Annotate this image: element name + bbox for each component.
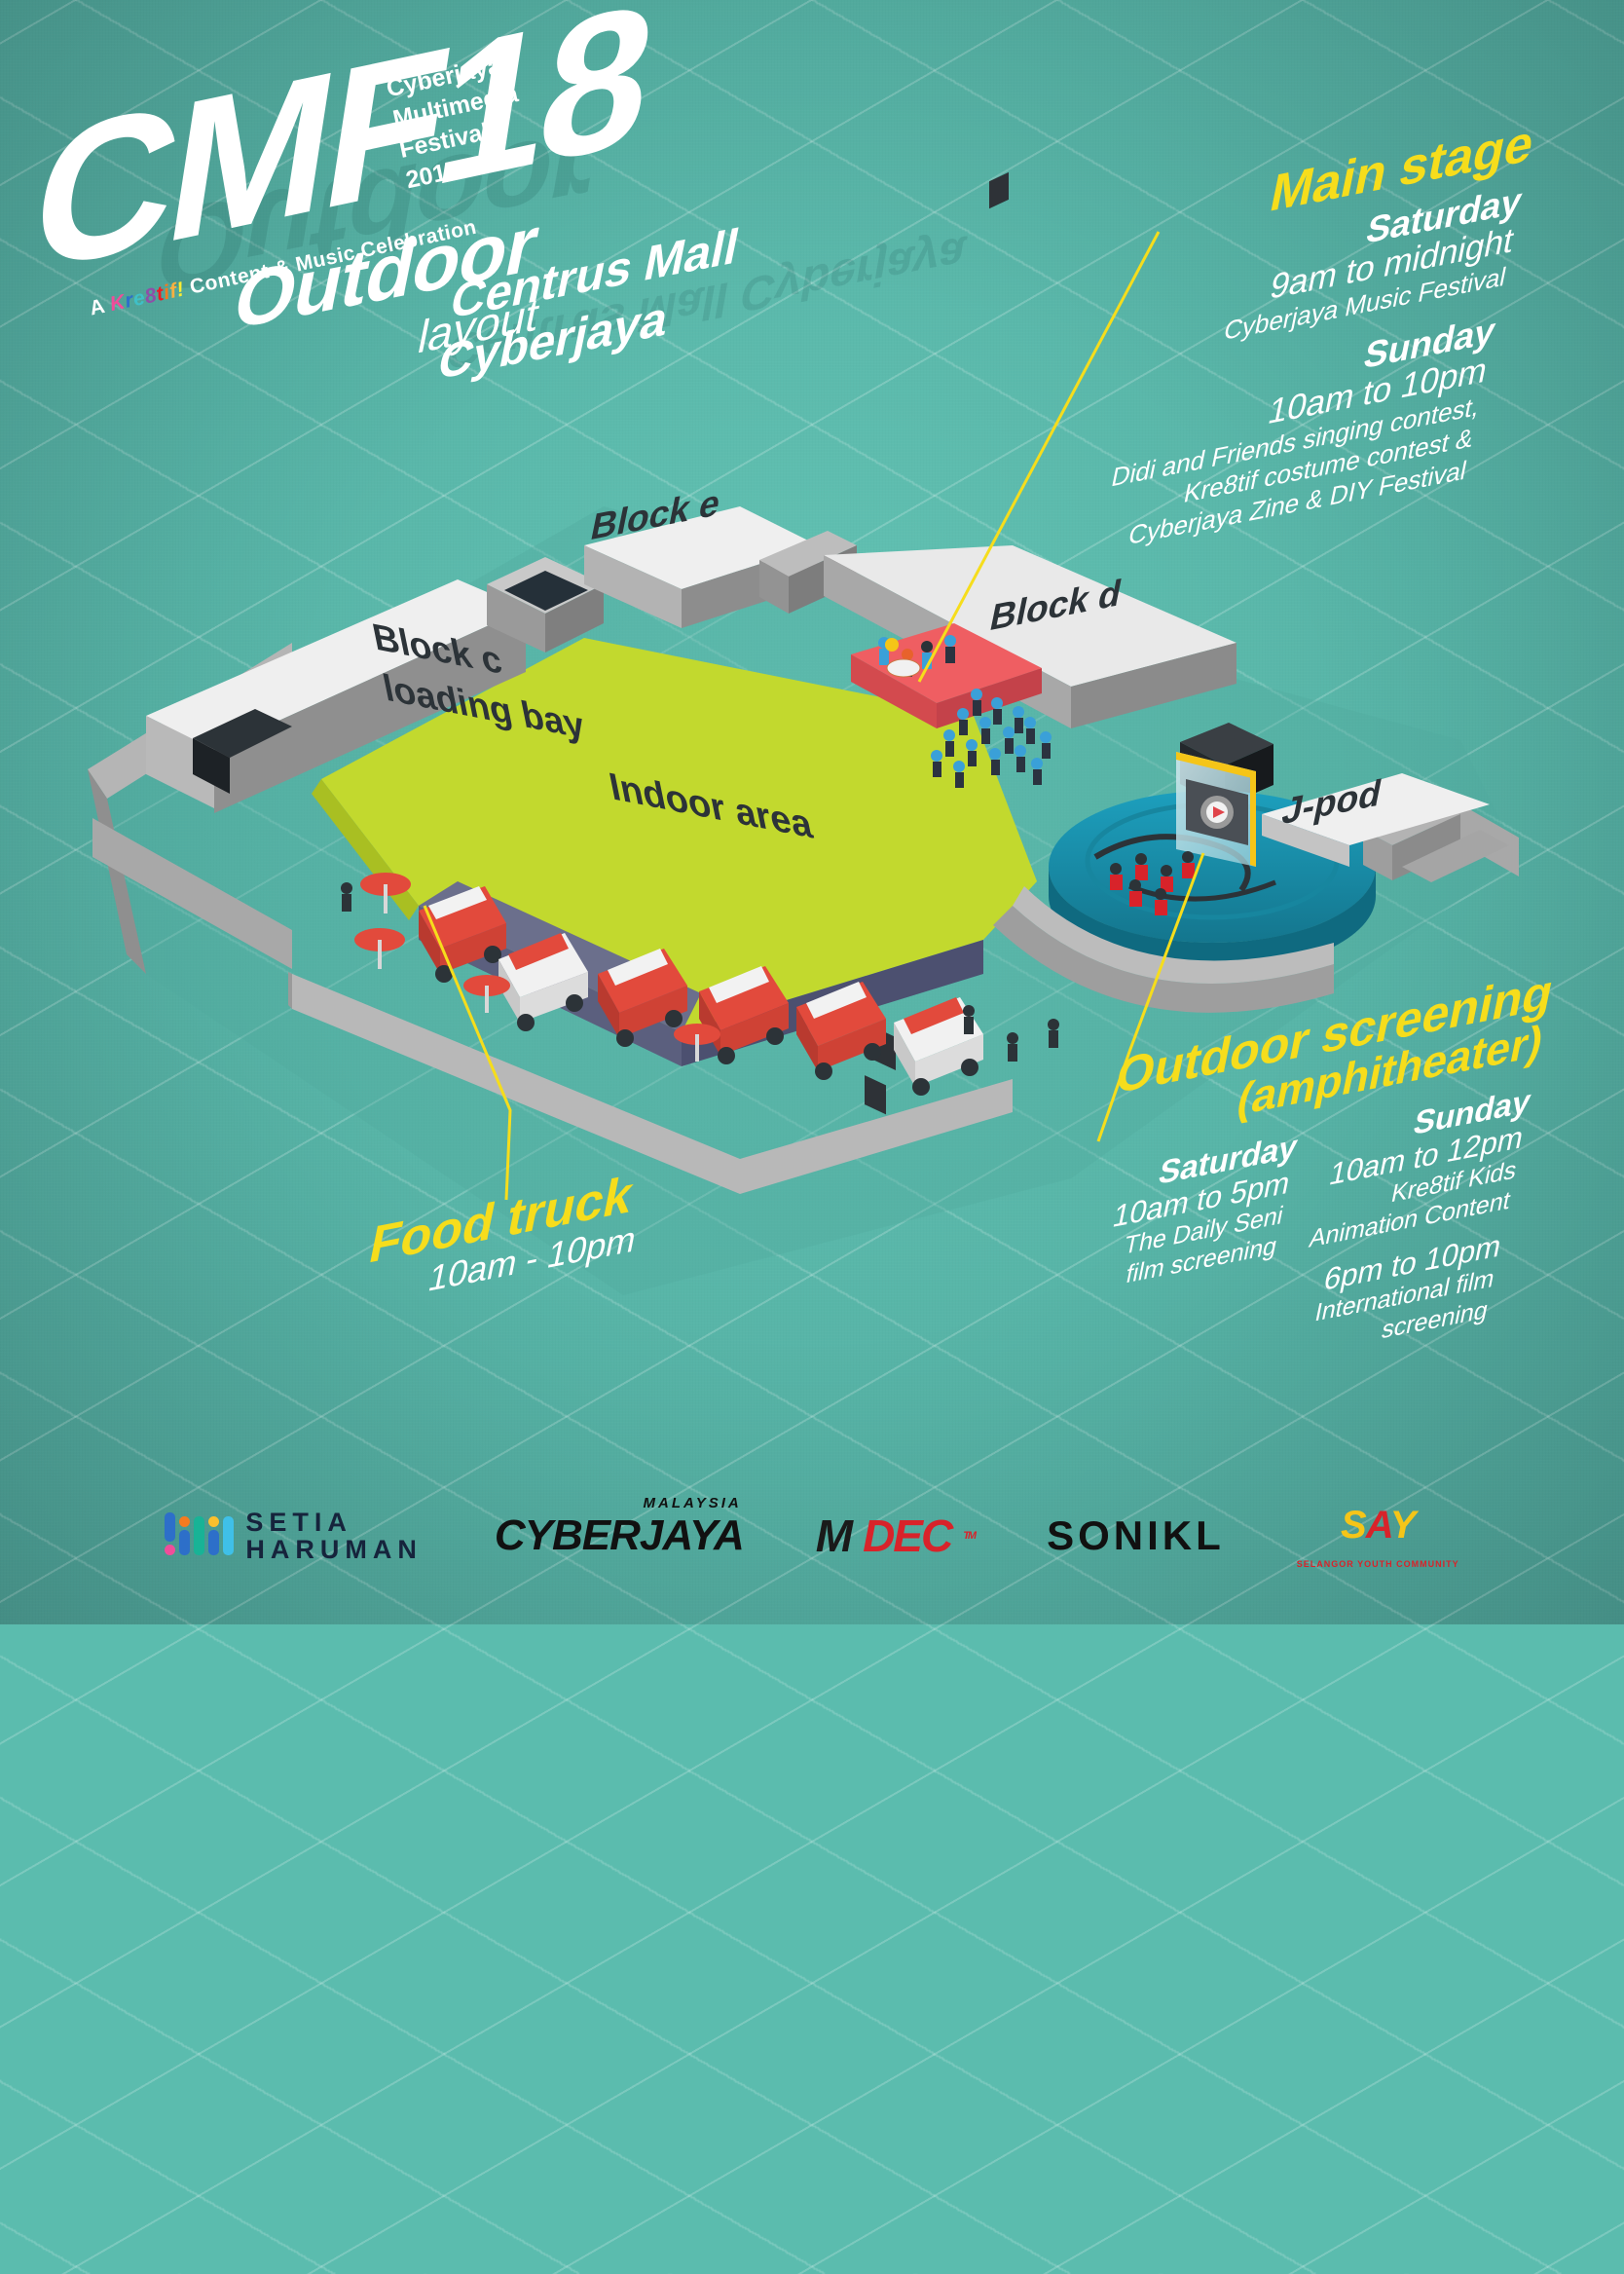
sponsor-setia-haruman: SETIA HARUMAN <box>165 1509 422 1564</box>
screening-saturday-column: Saturday 10am to 5pm The Daily Seni film… <box>1075 1118 1303 1405</box>
say-wordmark: SAY <box>1341 1504 1415 1547</box>
mdec-wordmark-part1: M <box>816 1510 851 1562</box>
festival-logo-subtitle: Cyberjaya Multimedia Festival 2018 <box>384 48 534 196</box>
mdec-trademark: TM <box>963 1530 975 1542</box>
mdec-wordmark-part2: DEC <box>863 1510 951 1562</box>
cyberjaya-wordmark: CYBERJAYA <box>495 1511 744 1560</box>
say-subtitle: SELANGOR YOUTH COMMUNITY <box>1297 1559 1459 1569</box>
setia-haruman-wordmark: SETIA HARUMAN <box>245 1509 422 1564</box>
sponsor-say: SAY SELANGOR YOUTH COMMUNITY <box>1297 1504 1459 1569</box>
sponsor-mdec: MDECTM <box>816 1510 975 1562</box>
sponsor-line-2: HARUMAN <box>245 1536 422 1563</box>
sponsor-line-1: SETIA <box>245 1509 422 1536</box>
sponsor-bar: SETIA HARUMAN CYBERJAYA MALAYSIA MDECTM … <box>0 1494 1624 1578</box>
sponsor-cyberjaya: CYBERJAYA MALAYSIA <box>495 1511 744 1560</box>
setia-haruman-mark <box>165 1516 234 1555</box>
cyberjaya-malaysia-label: MALAYSIA <box>644 1495 742 1511</box>
sponsor-sonikl: SONIKL <box>1047 1512 1225 1559</box>
